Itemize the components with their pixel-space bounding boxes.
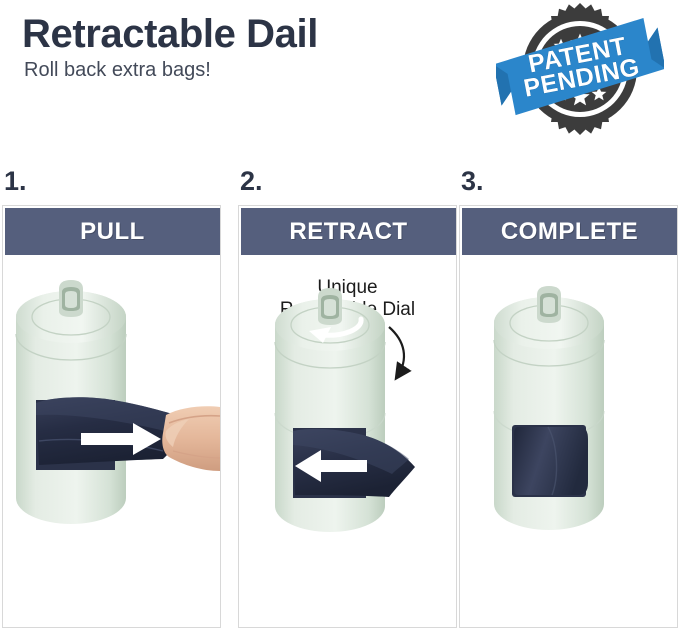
step-number-1: 1. bbox=[4, 168, 27, 195]
steps-section: 1. PULL bbox=[0, 160, 679, 633]
step-number-2: 2. bbox=[240, 168, 263, 195]
page-header: Retractable Dail Roll back extra bags! bbox=[0, 0, 679, 160]
loop-tab-icon bbox=[59, 280, 83, 317]
step-body-3 bbox=[460, 255, 677, 627]
step-header-bar-2: RETRACT bbox=[241, 208, 456, 255]
step-body-2: Unique Retractable Dial bbox=[239, 255, 456, 627]
patent-pending-badge-icon: PATENT PENDING bbox=[496, 2, 664, 136]
step-panel-complete[interactable]: COMPLETE bbox=[459, 205, 678, 628]
dispenser-dial-rotating-icon bbox=[239, 255, 456, 627]
step-header-bar-1: PULL bbox=[5, 208, 220, 255]
step-label-pull: PULL bbox=[80, 218, 145, 246]
step-panel-pull[interactable]: PULL bbox=[2, 205, 221, 628]
step-panel-retract[interactable]: RETRACT Unique Retractable Dial bbox=[238, 205, 457, 628]
step-label-complete: COMPLETE bbox=[501, 218, 638, 246]
step-label-retract: RETRACT bbox=[289, 218, 407, 246]
step-number-3: 3. bbox=[461, 168, 484, 195]
dispenser-bag-pulled-with-hand-icon bbox=[3, 255, 220, 627]
page-title: Retractable Dail bbox=[22, 14, 318, 54]
loop-tab-icon bbox=[318, 288, 342, 325]
annotation-arrow-icon bbox=[389, 327, 404, 377]
step-header-bar-3: COMPLETE bbox=[462, 208, 677, 255]
loop-tab-icon bbox=[537, 286, 561, 323]
page-subtitle: Roll back extra bags! bbox=[24, 60, 211, 80]
step-body-1 bbox=[3, 255, 220, 627]
dispenser-bag-retracted-icon bbox=[460, 255, 677, 627]
hand-icon bbox=[162, 406, 220, 471]
